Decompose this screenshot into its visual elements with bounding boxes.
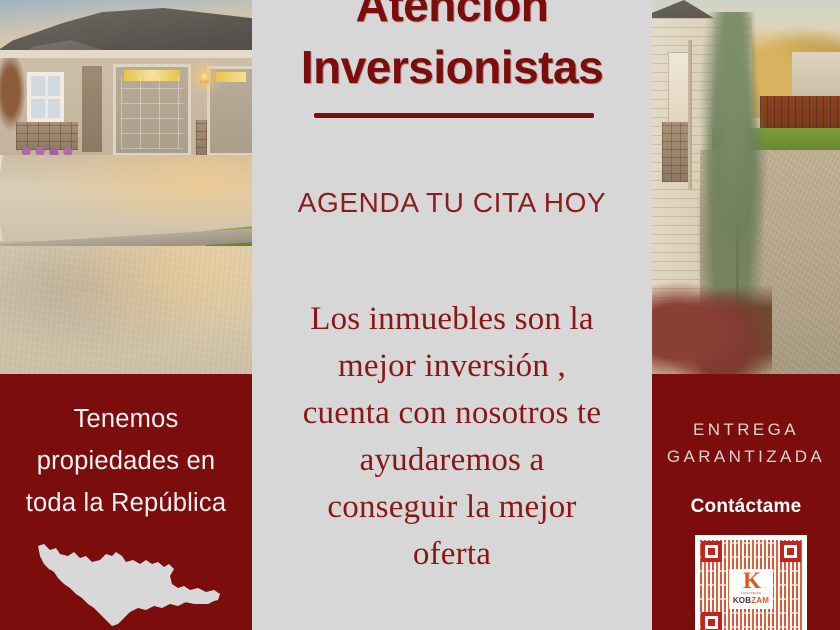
delivery-guarantee-text: ENTREGA GARANTIZADA: [652, 416, 840, 470]
house-window: [27, 72, 64, 122]
entrega-line-1: ENTREGA: [652, 416, 840, 443]
qr-finder-top-left-icon: [701, 541, 722, 562]
neighbor-house: [792, 52, 840, 100]
garage-panel-grid: [121, 77, 183, 149]
entry-door: [82, 66, 102, 152]
body-line: cuenta con nosotros te: [266, 390, 638, 437]
left-column: Tenemos propiedades en toda la República: [0, 0, 252, 630]
porch-lamp: [200, 72, 209, 83]
right-red-panel: ENTREGA GARANTIZADA Contáctame K corpora…: [652, 374, 840, 630]
foreground-shrubs: [652, 268, 772, 374]
right-column: ENTREGA GARANTIZADA Contáctame K corpora…: [652, 0, 840, 630]
body-line: ayudaremos a: [266, 437, 638, 484]
pine-tree: [694, 12, 774, 312]
center-panel: Atención Inversionistas AGENDA TU CITA H…: [252, 0, 652, 630]
poster-canvas: Tenemos propiedades en toda la República…: [0, 0, 840, 630]
body-line: mejor inversión ,: [266, 343, 638, 390]
qr-code[interactable]: K corporativo KOBZAM: [695, 535, 807, 630]
kobzam-logo: K corporativo KOBZAM: [729, 569, 773, 609]
qr-finder-bottom-left-icon: [701, 612, 722, 630]
body-copy: Los inmuebles son la mejor inversión , c…: [266, 296, 638, 578]
stone-column-right: [662, 122, 688, 182]
garage-door-main: [113, 64, 191, 156]
house-photo-right: [652, 0, 840, 374]
downspout: [688, 40, 692, 190]
entrega-line-2: GARANTIZADA: [652, 443, 840, 470]
contact-label: Contáctame: [652, 496, 840, 518]
pavement-texture: [0, 246, 252, 374]
kobzam-prefix: KOB: [733, 596, 751, 605]
page-title: Atención Inversionistas: [252, 0, 652, 98]
driveway-reflections: [0, 155, 252, 241]
body-line: Los inmuebles son la: [266, 296, 638, 343]
garage-door-second: [207, 66, 252, 156]
title-divider: [314, 113, 594, 118]
subheadline: AGENDA TU CITA HOY: [252, 187, 652, 219]
body-line: oferta: [266, 531, 638, 578]
kobzam-suffix: ZAM: [751, 596, 769, 605]
headline-line-2: Inversionistas: [252, 36, 652, 98]
kobzam-wordmark: KOBZAM: [733, 596, 769, 606]
mexico-map-icon: [30, 534, 226, 630]
side-shrub: [0, 58, 26, 132]
headline-line-1: Atención: [252, 0, 652, 36]
left-red-panel: Tenemos propiedades en toda la República: [0, 374, 252, 630]
house-photo-left: [0, 0, 252, 374]
body-line: conseguir la mejor: [266, 484, 638, 531]
qr-inner: K corporativo KOBZAM: [700, 540, 802, 630]
kobzam-mark-icon: K: [743, 571, 759, 591]
left-tagline: Tenemos propiedades en toda la República: [8, 398, 244, 524]
roof-fascia: [0, 50, 252, 58]
qr-finder-top-right-icon: [780, 541, 801, 562]
garage-window-lite-second: [216, 72, 246, 82]
